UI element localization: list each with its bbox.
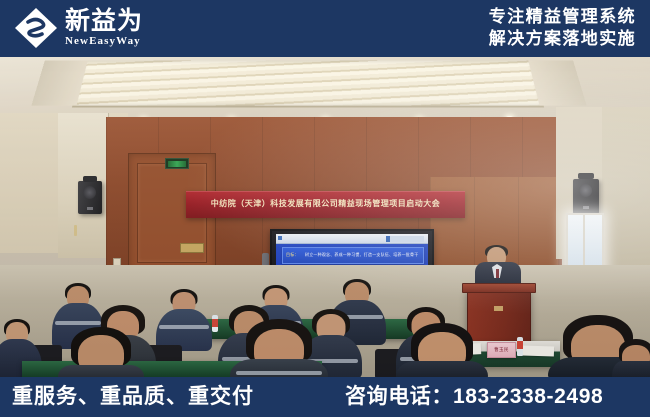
wall-plaque xyxy=(180,243,204,253)
podium-top xyxy=(462,283,536,293)
emergency-exit-sign-icon xyxy=(165,158,189,169)
page-header: 新益为 NewEasyWay 专注精益管理系统 解决方案落地实施 xyxy=(0,0,650,57)
speaker-bracket-left xyxy=(83,176,97,182)
slide-row-label: 目标： xyxy=(286,252,299,258)
slide-row: 目标： 树立一种观念、养成一种习惯、打造一支队伍、培养一批骨干 xyxy=(282,247,424,264)
meeting-banner-text: 中纺院（天津）科技发展有限公司精益现场管理项目启动大会 xyxy=(186,198,465,209)
header-slogan-line2: 解决方案落地实施 xyxy=(489,28,636,50)
brand-logo[interactable]: 新益为 NewEasyWay xyxy=(13,6,143,50)
newEasyWay-diamond-logo-icon xyxy=(13,6,59,50)
meeting-banner: 中纺院（天津）科技发展有限公司精益现场管理项目启动大会 xyxy=(186,191,465,218)
door-handle-icon[interactable] xyxy=(74,225,77,236)
audience-person-front xyxy=(612,339,650,377)
header-slogan: 专注精益管理系统 解决方案落地实施 xyxy=(489,6,636,50)
slide-row-text: 树立一种观念、养成一种习惯、打造一支队伍、培养一批骨干 xyxy=(305,252,418,258)
audience-person-front xyxy=(58,327,144,377)
brand-text: 新益为 NewEasyWay xyxy=(65,8,143,48)
podium-plate xyxy=(494,306,503,311)
speaker-bracket-right xyxy=(578,173,594,179)
brand-name-cn: 新益为 xyxy=(65,8,143,35)
audience-person-front xyxy=(396,323,488,377)
footer-slogan: 重服务、重品质、重交付 xyxy=(12,384,254,410)
brand-name-en: NewEasyWay xyxy=(65,35,143,48)
footer-phone-number: 183-2338-2498 xyxy=(453,385,603,408)
wall-speaker-right-icon xyxy=(573,179,599,214)
header-slogan-line1: 专注精益管理系统 xyxy=(489,6,636,28)
footer-contact-label: 咨询电话： xyxy=(345,385,453,408)
footer-contact[interactable]: 咨询电话：183-2338-2498 xyxy=(345,384,603,410)
audience-person xyxy=(156,289,212,351)
meeting-photo: 中纺院（天津）科技发展有限公司精益现场管理项目启动大会 目标： 树立一种观念 xyxy=(0,57,650,377)
slide-title-bar xyxy=(276,234,428,244)
far-right-wall xyxy=(602,107,650,267)
audience-person-front xyxy=(230,319,328,377)
promotional-banner-image: 新益为 NewEasyWay 专注精益管理系统 解决方案落地实施 xyxy=(0,0,650,417)
slide-logo-icon xyxy=(386,236,424,242)
ceiling-light-panel xyxy=(72,61,544,108)
page-footer: 重服务、重品质、重交付 咨询电话：183-2338-2498 xyxy=(0,377,650,417)
wall-speaker-left-icon xyxy=(78,181,102,214)
